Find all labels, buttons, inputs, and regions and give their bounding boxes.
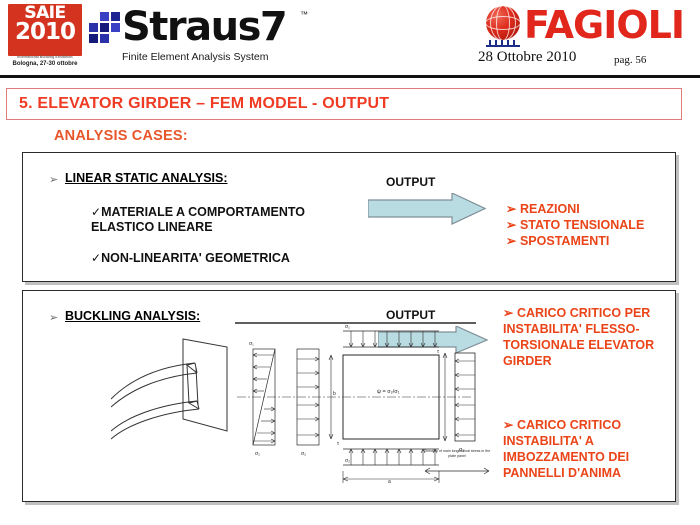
arrow-bullet-icon: ➢ <box>49 311 58 324</box>
straus7-wordmark: Straus7 <box>122 3 286 51</box>
globe-icon <box>486 6 520 40</box>
figure-label-b: b <box>333 391 336 397</box>
output-list-linear: ➢ REAZIONI ➢ STATO TENSIONALE ➢ SPOSTAME… <box>506 201 644 249</box>
figure-caption: Direction of main longitudinal stress in… <box>421 449 493 458</box>
linear-analysis-heading: LINEAR STATIC ANALYSIS: <box>65 171 228 185</box>
saie-logo-year: 2010 <box>8 21 82 44</box>
check-item-2-label: NON-LINEARITA' GEOMETRICA <box>101 251 290 265</box>
check-icon: ✓ <box>91 205 101 219</box>
caption-direction-arrow-icon <box>421 467 493 475</box>
fagioli-logo: FAGIOLI 28 Ottobre 2010 pag. 56 <box>464 2 692 74</box>
buckling-analysis-heading: BUCKLING ANALYSIS: <box>65 309 200 323</box>
output-list-item: ➢ STATO TENSIONALE <box>506 217 644 233</box>
straus7-logo: Straus7 ™ Finite Element Analysis System <box>88 6 338 68</box>
straus7-trademark-icon: ™ <box>300 10 308 19</box>
saie-logo-block: SAIE 2010 <box>8 4 82 56</box>
figure-label-tau-top: τ <box>437 349 439 355</box>
output-arrow-icon <box>368 193 486 225</box>
figure-label-a: a <box>388 479 391 485</box>
check-item-1: ✓MATERIALE A COMPORTAMENTO ELASTICO LINE… <box>91 205 351 235</box>
figure-label-tau-bot: τ <box>337 441 339 447</box>
straus7-subtitle: Finite Element Analysis System <box>122 51 268 63</box>
section-subtitle: ANALYSIS CASES: <box>54 128 188 144</box>
arrow-bullet-icon: ➢ <box>506 218 516 232</box>
saie-logo-location: Bologna, 27-30 ottobre <box>8 60 82 68</box>
output-label-linear: OUTPUT <box>386 175 435 189</box>
presentation-date: 28 Ottobre 2010 <box>478 49 576 66</box>
straus7-grid-icon <box>88 12 122 48</box>
output-item-label: STATO TENSIONALE <box>520 218 644 232</box>
panel-buckling-analysis: ➢ BUCKLING ANALYSIS: OUTPUT ➢ CARICO CRI… <box>22 290 676 502</box>
figure-label-sigma2: σ₂ <box>255 451 260 457</box>
page-number: pag. 56 <box>614 54 646 66</box>
output-item-label: SPOSTAMENTI <box>520 234 609 248</box>
output-paragraph-label: CARICO CRITICO PER INSTABILITA' FLESSO-T… <box>503 306 654 368</box>
arrow-bullet-icon: ➢ <box>503 306 513 320</box>
output-list-item: ➢ SPOSTAMENTI <box>506 233 644 249</box>
page-header: SAIE 2010 International Building Exhibit… <box>0 0 700 78</box>
check-icon: ✓ <box>91 251 101 265</box>
panel-linear-static-analysis: ➢ LINEAR STATIC ANALYSIS: ✓MATERIALE A C… <box>22 152 676 282</box>
output-item-label: REAZIONI <box>520 202 580 216</box>
output-paragraph-label: CARICO CRITICO INSTABILITA' A IMBOZZAMEN… <box>503 418 629 480</box>
figure-label-ratio: ψ = σ₂/σ₁ <box>377 389 400 395</box>
output-paragraph-buckling-2: ➢ CARICO CRITICO INSTABILITA' A IMBOZZAM… <box>503 417 671 481</box>
arrow-bullet-icon: ➢ <box>49 173 58 186</box>
header-divider <box>0 75 700 78</box>
fagioli-wordmark: FAGIOLI <box>524 2 684 48</box>
arrow-bullet-icon: ➢ <box>506 234 516 248</box>
output-paragraph-buckling-1: ➢ CARICO CRITICO PER INSTABILITA' FLESSO… <box>503 305 671 369</box>
page-title: 5. ELEVATOR GIRDER – FEM MODEL - OUTPUT <box>19 95 389 113</box>
arrow-bullet-icon: ➢ <box>503 418 513 432</box>
output-list-item: ➢ REAZIONI <box>506 201 644 217</box>
buckled-girder-sketch <box>111 333 239 451</box>
figure-label-sigma-top: σ₁ <box>345 324 350 330</box>
globe-stand-icon <box>486 40 520 47</box>
figure-label-sigma-bot: σ₂ <box>345 458 350 464</box>
slide-title-box: 5. ELEVATOR GIRDER – FEM MODEL - OUTPUT <box>6 88 682 120</box>
check-item-2: ✓NON-LINEARITA' GEOMETRICA <box>91 251 371 266</box>
check-item-1-label: MATERIALE A COMPORTAMENTO ELASTICO LINEA… <box>91 205 305 234</box>
figure-label-sigma1: σ₁ <box>249 341 254 347</box>
arrow-bullet-icon: ➢ <box>506 202 516 216</box>
saie-logo: SAIE 2010 International Building Exhibit… <box>8 4 82 72</box>
figure-label-sigma-mid: σ₂ <box>301 451 306 457</box>
